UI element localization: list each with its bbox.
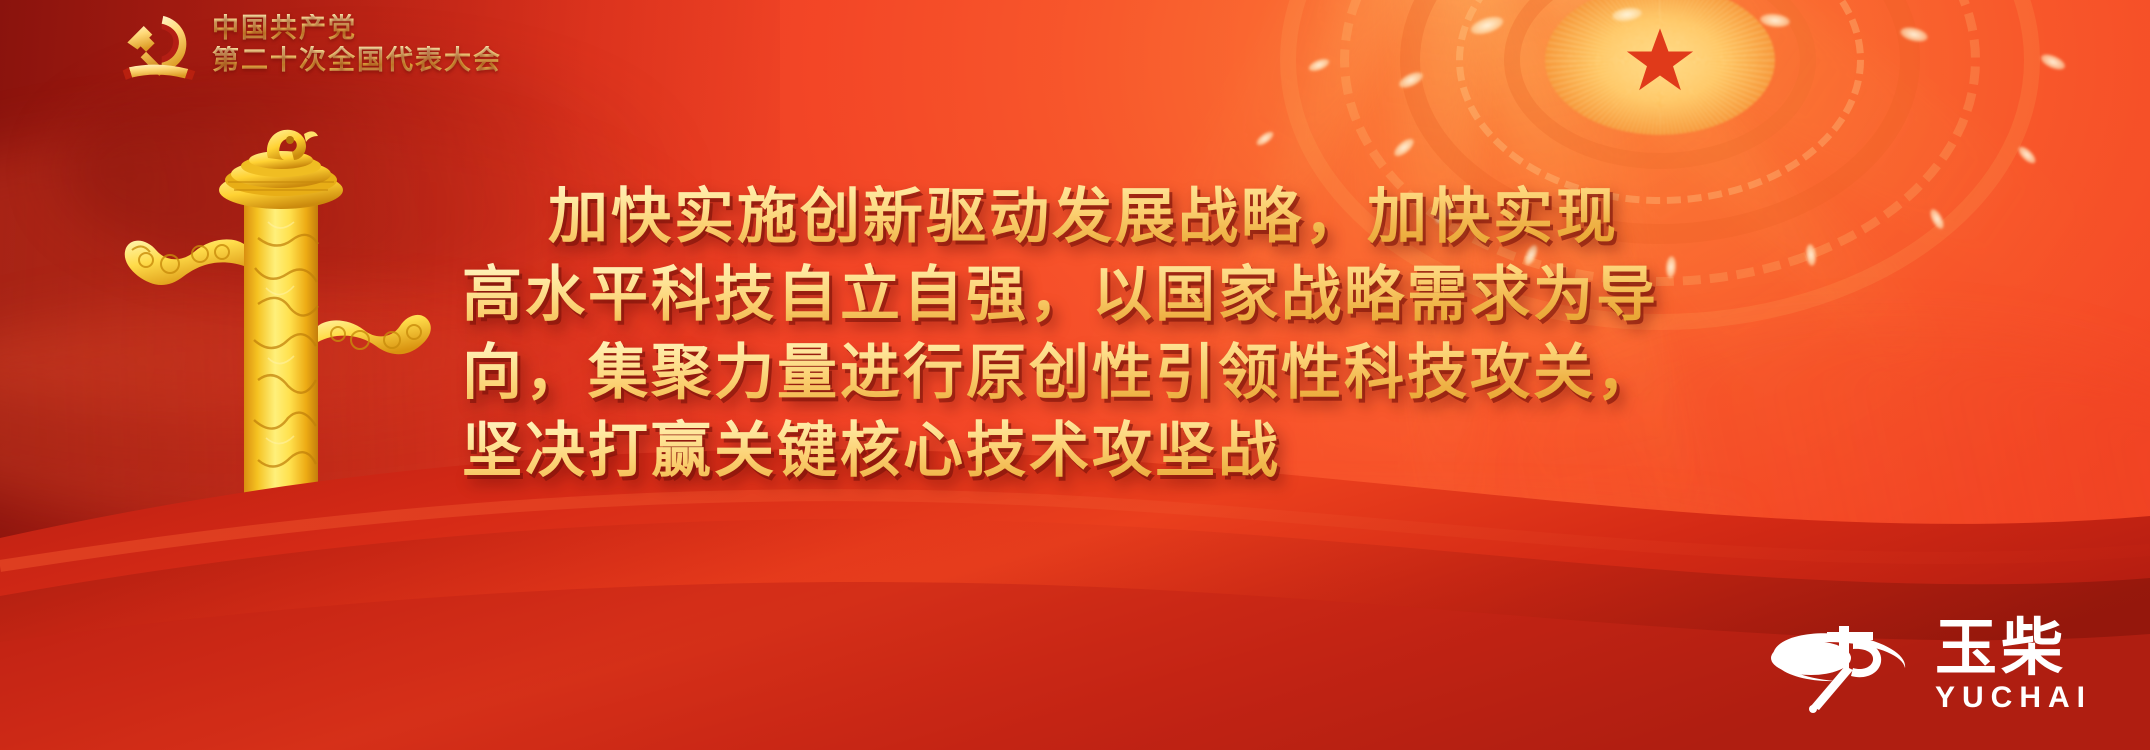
slogan-line-1: 加快实施创新驱动发展战略，加快实现 — [462, 178, 1752, 256]
slogan-line-4: 坚决打赢关键核心技术攻坚战 — [462, 412, 1752, 490]
yuchai-ellipse-mark-icon — [1767, 616, 1917, 714]
yuchai-logo: 玉柴 YUCHAI — [1767, 616, 2092, 714]
red-star-icon — [1624, 24, 1696, 96]
slogan-block: 加快实施创新驱动发展战略，加快实现 高水平科技自立自强，以国家战略需求为导 向，… — [462, 178, 1752, 490]
yuchai-name-cn: 玉柴 — [1935, 616, 2067, 680]
congress-titles: 中国共产党 第二十次全国代表大会 — [212, 12, 502, 77]
slogan-line-3: 向，集聚力量进行原创性引领性科技攻关， — [462, 334, 1752, 412]
party-congress-lockup: 中国共产党 第二十次全国代表大会 — [118, 8, 502, 80]
yuchai-name-en: YUCHAI — [1935, 682, 2092, 714]
yuchai-wordmark: 玉柴 YUCHAI — [1935, 616, 2092, 714]
congress-banner: 中国共产党 第二十次全国代表大会 — [0, 0, 2150, 750]
congress-title-line-2: 第二十次全国代表大会 — [212, 46, 502, 77]
slogan-line-2: 高水平科技自立自强，以国家战略需求为导 — [462, 256, 1752, 334]
hammer-and-sickle-icon — [118, 8, 196, 80]
congress-title-line-1: 中国共产党 — [212, 14, 502, 45]
